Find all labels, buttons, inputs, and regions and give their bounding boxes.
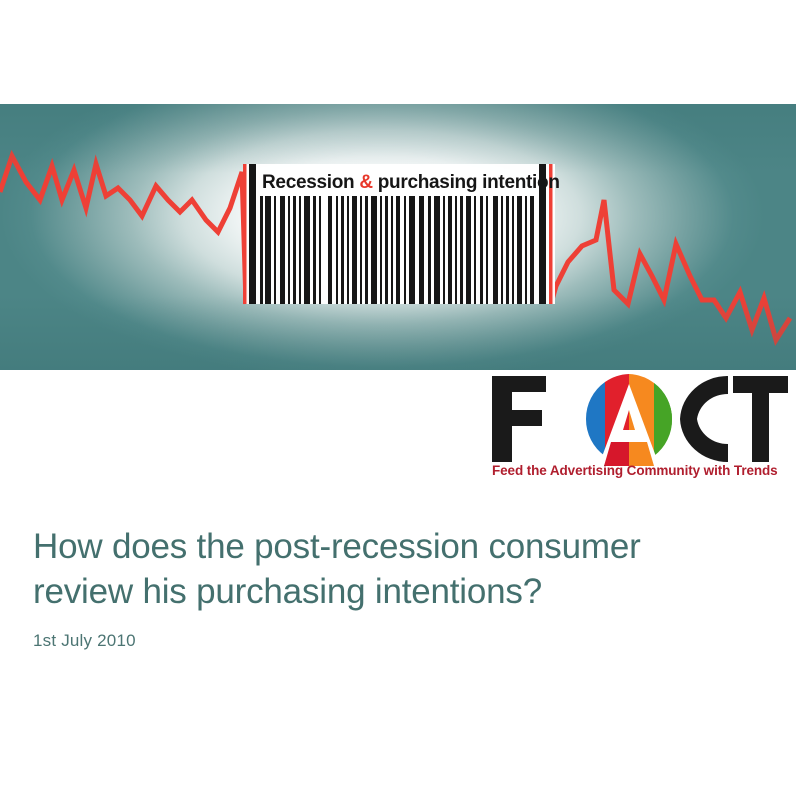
barcode-caption-ampersand: & [359,172,373,193]
logo-letter-t [733,376,788,462]
logo-letter-f [492,376,546,462]
fact-logo: Feed the Advertising Community with Tren… [488,370,792,478]
recession-banner: Recession & purchasing intention [0,104,796,370]
fact-logo-svg: Feed the Advertising Community with Tren… [488,370,792,478]
page-title: How does the post-recession consumer rev… [33,524,763,614]
presentation-date: 1st July 2010 [33,630,763,652]
logo-letter-c [680,376,728,462]
barcode-caption-part-1: Recession [262,172,354,193]
barcode-graphic: Recession & purchasing intention [0,104,796,370]
barcode-bar-guard-1 [249,164,256,304]
barcode-guard-left [243,164,247,304]
slide-canvas: Recession & purchasing intention [0,0,800,800]
logo-tagline: Feed the Advertising Community with Tren… [492,463,778,478]
barcode-caption: Recession & purchasing intention [262,172,560,193]
logo-letter-a [586,374,672,466]
barcode-caption-part-2: purchasing intention [378,172,560,193]
title-block: How does the post-recession consumer rev… [33,524,763,652]
